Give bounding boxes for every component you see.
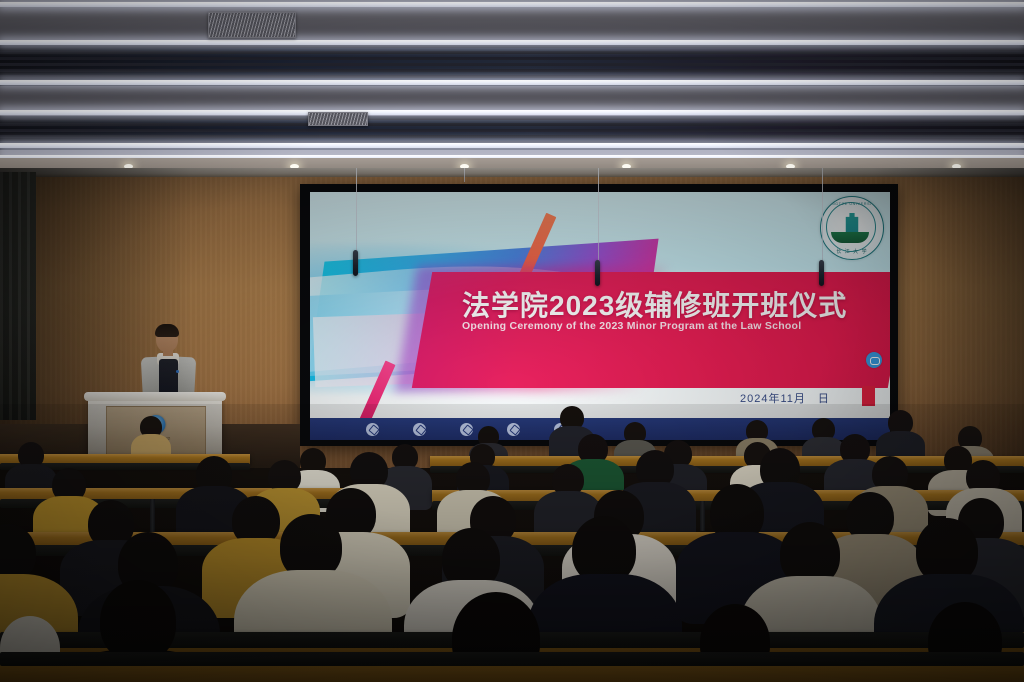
slide-title-cn: 法学院2023级辅修班开班仪式 xyxy=(462,284,882,324)
ceiling-light-strip xyxy=(0,2,1024,7)
desk-leg xyxy=(150,499,155,533)
desk-backrest xyxy=(430,466,1024,473)
air-vent xyxy=(208,12,296,38)
ceiling-light-strip xyxy=(0,143,1024,148)
ceiling-light-strip xyxy=(0,110,1024,115)
presentation-screen[interactable]: 法学院2023级辅修班开班仪式 Opening Ceremony of the … xyxy=(310,192,890,440)
microphone-cable xyxy=(356,168,357,250)
foreground-desk-backrest xyxy=(0,652,1024,666)
speaker-person xyxy=(140,326,200,402)
accessibility-badge-icon xyxy=(866,352,882,368)
speaker-lapel-pin xyxy=(176,370,179,373)
slide-red-marker xyxy=(862,386,875,406)
podium-lectern-top xyxy=(84,392,226,401)
seal-base-shape xyxy=(831,232,869,243)
microphone-cable xyxy=(464,168,465,182)
audience-area xyxy=(0,404,1024,682)
ceiling-light-strip xyxy=(0,80,1024,85)
microphone-cable xyxy=(598,168,599,260)
desk-leg xyxy=(700,501,705,531)
university-seal-logo: YANGTZE UNIVERSITY 长 江 大 学 xyxy=(820,196,884,260)
seal-text-top: YANGTZE UNIVERSITY xyxy=(821,202,883,206)
speaker-hair xyxy=(155,324,179,337)
air-vent xyxy=(308,112,368,126)
slide-subtitle-en: Opening Ceremony of the 2023 Minor Progr… xyxy=(462,320,882,332)
ceiling xyxy=(0,0,1024,172)
hanging-microphone xyxy=(819,260,824,286)
ceiling-light-strip xyxy=(0,40,1024,45)
hanging-microphone xyxy=(353,250,358,276)
lecture-hall-photo: 法学院2023级辅修班开班仪式 Opening Ceremony of the … xyxy=(0,0,1024,682)
microphone-cable xyxy=(822,168,823,260)
hanging-microphone xyxy=(595,260,600,286)
seal-text-bottom: 长 江 大 学 xyxy=(821,248,883,255)
